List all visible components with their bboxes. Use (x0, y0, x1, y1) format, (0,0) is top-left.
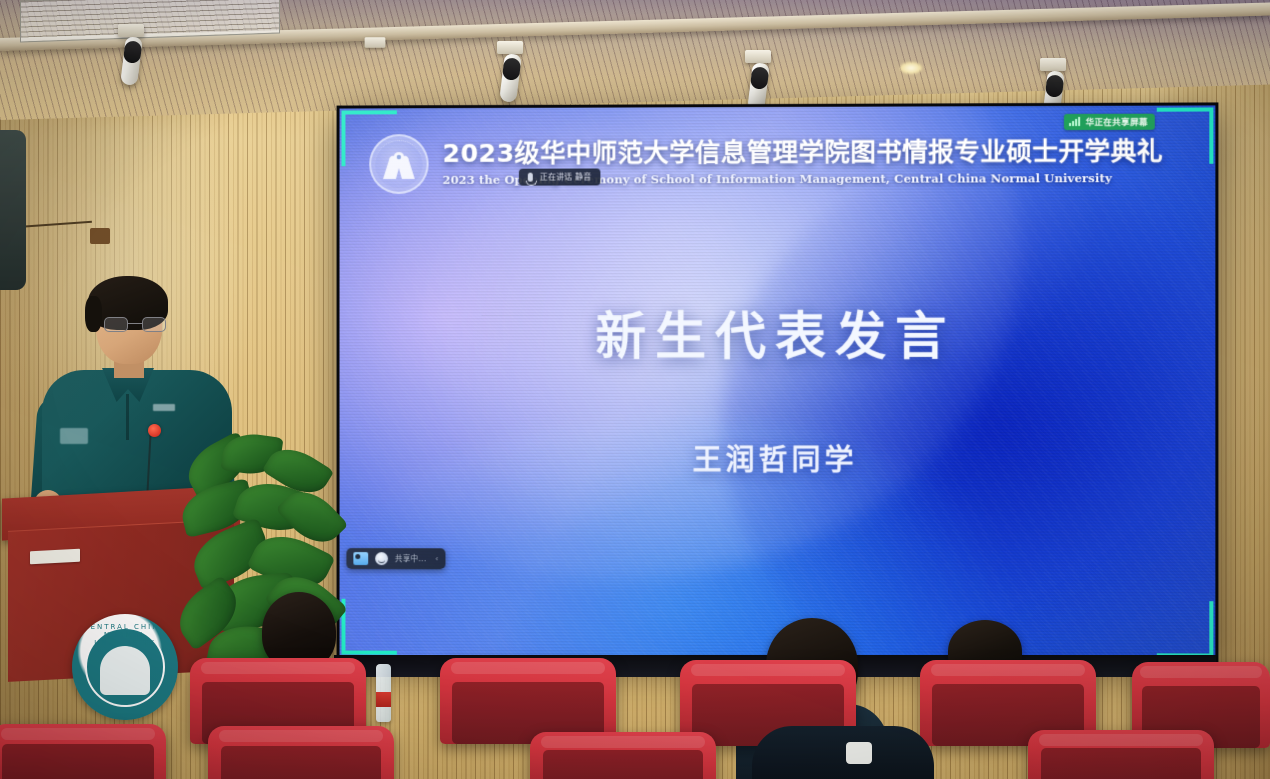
auditorium-photo: 2023级华中师范大学信息管理学院图书情报专业硕士开学典礼 2023 the O… (0, 0, 1270, 779)
audience-foreground-person (752, 726, 934, 779)
ceiling-camera (365, 37, 386, 47)
meeting-mini-toolbar[interactable]: 共享中... ‹ (346, 548, 445, 569)
lamp-mount (745, 50, 771, 63)
speaking-indicator-label: 正在讲话 静音 (540, 171, 592, 182)
theater-seat (0, 724, 166, 779)
speaker-glasses (104, 317, 166, 333)
lamp-mount (497, 41, 523, 54)
podium-name-card (30, 549, 80, 565)
slide-title-chinese: 2023级华中师范大学信息管理学院图书情报专业硕士开学典礼 (442, 139, 1185, 169)
signal-bars-icon (1069, 118, 1080, 126)
mini-toolbar-label: 共享中... (395, 553, 427, 564)
wall-cable-box (90, 228, 110, 244)
screen-share-label: 华正在共享屏幕 (1086, 116, 1148, 128)
speaking-indicator-badge: 正在讲话 静音 (519, 168, 600, 185)
slide-subheading: 王润哲同学 (340, 437, 1216, 480)
presentation-screen[interactable]: 2023级华中师范大学信息管理学院图书情报专业硕士开学典礼 2023 the O… (337, 102, 1219, 662)
shirt-right-logo (153, 404, 175, 411)
theater-seat (530, 732, 716, 779)
screen-share-icon[interactable] (353, 552, 368, 565)
shirt-left-sleeve-logo (60, 428, 88, 444)
university-emblem: CENTRAL CHINA NORMAL UNIVERSITY (72, 614, 178, 720)
lamp-mount (118, 24, 144, 37)
emblem-ribbon-shape (100, 646, 151, 695)
theater-seat (1028, 730, 1214, 779)
recessed-downlight (900, 62, 922, 74)
track-lamp (745, 50, 771, 111)
screen-share-badge: 华正在共享屏幕 (1064, 114, 1154, 130)
lamp-head (120, 36, 143, 86)
reaction-emoji-icon[interactable] (375, 552, 388, 565)
track-lamp (497, 41, 523, 102)
track-lamp (118, 24, 144, 85)
water-bottle (376, 664, 391, 722)
slide-header: 2023级华中师范大学信息管理学院图书情报专业硕士开学典礼 2023 the O… (369, 132, 1185, 194)
collapse-chevron-icon[interactable]: ‹ (436, 554, 439, 563)
screen-display-area: 2023级华中师范大学信息管理学院图书情报专业硕士开学典礼 2023 the O… (340, 105, 1216, 659)
slide-body: 新生代表发言 王润哲同学 (340, 295, 1216, 480)
slide-main-heading: 新生代表发言 (340, 295, 1216, 370)
theater-seat (208, 726, 394, 779)
lamp-head (499, 53, 522, 103)
speaker-shirt-placket (126, 394, 129, 440)
wall-speaker-box (0, 130, 26, 290)
ccnu-university-logo-icon (369, 134, 428, 194)
audience-collar-detail (846, 742, 872, 764)
emblem-text: CENTRAL CHINA NORMAL UNIVERSITY (72, 623, 178, 647)
lamp-mount (1040, 58, 1066, 71)
camera-mount (365, 37, 386, 47)
logo-bird-glyph (379, 149, 419, 183)
speaker-lapel-pin (148, 424, 161, 437)
microphone-icon (528, 173, 533, 182)
